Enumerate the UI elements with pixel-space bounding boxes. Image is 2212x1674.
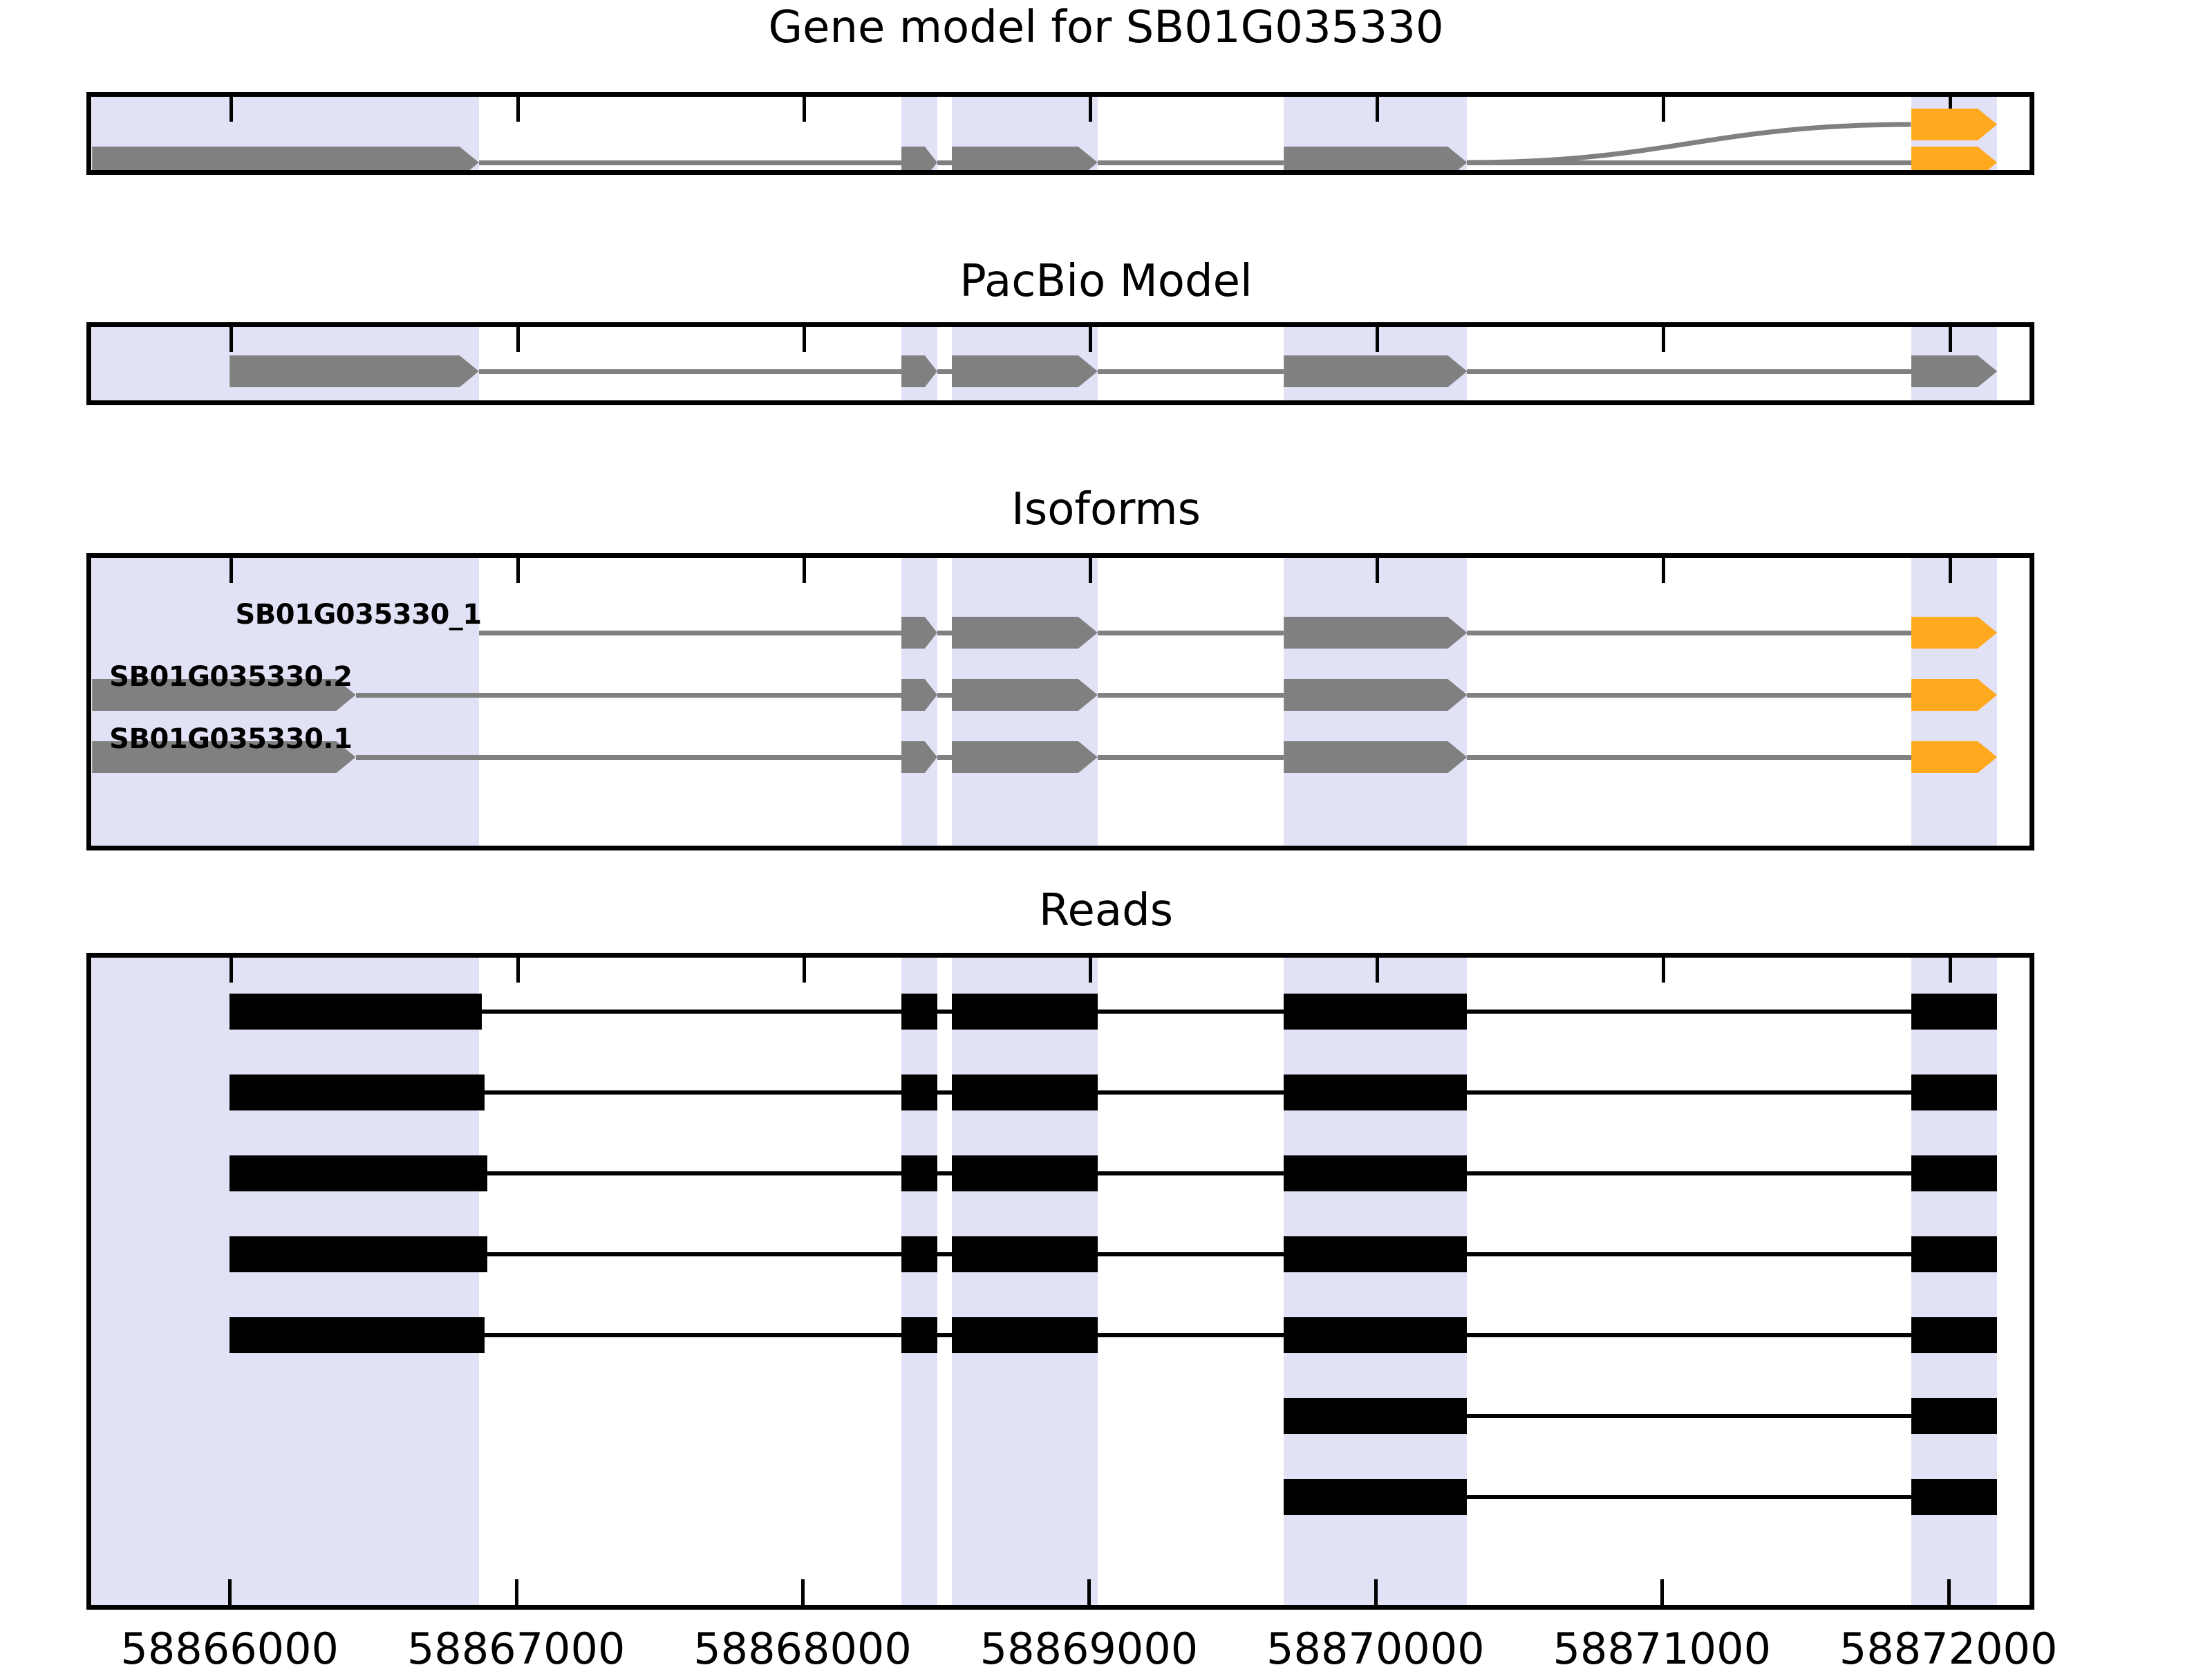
intron-line	[229, 1171, 1997, 1175]
read-block	[901, 1155, 937, 1191]
read-block	[901, 1236, 937, 1272]
read-block	[1911, 1398, 1997, 1434]
axis-tick-label: 58871000	[1510, 1628, 1814, 1671]
intron-line	[356, 693, 901, 698]
read-block	[229, 1155, 487, 1191]
read-block	[1284, 994, 1467, 1030]
read-block	[1284, 1317, 1467, 1353]
axis-tick-mark	[1949, 958, 1952, 983]
axis-tick-label: 58870000	[1224, 1628, 1528, 1671]
intron-line	[1467, 631, 1911, 635]
isoforms-panel: SB01G035330_1SB01G035330.2SB01G035330.1	[86, 553, 2034, 850]
exon-gray	[1284, 741, 1467, 773]
read-block	[1911, 1236, 1997, 1272]
axis-tick-mark	[803, 97, 806, 122]
read-block	[952, 1155, 1098, 1191]
intron-line	[229, 1252, 1997, 1256]
exon-gray	[952, 617, 1098, 649]
exon-gray	[952, 741, 1098, 773]
axis-tick-mark	[1662, 97, 1665, 122]
read-block	[901, 1317, 937, 1353]
intron-line	[937, 631, 952, 635]
axis-tick-mark	[1662, 327, 1665, 352]
intron-line	[229, 1010, 1997, 1014]
axis-tick-mark	[516, 958, 520, 983]
read-block	[952, 1236, 1098, 1272]
read-block	[901, 1075, 937, 1110]
gene-model-title: Gene model for SB01G035330	[0, 6, 2212, 50]
read-block	[952, 994, 1098, 1030]
gene-model-panel	[86, 92, 2034, 175]
read-block	[952, 1075, 1098, 1110]
axis-tick-mark	[1376, 958, 1379, 983]
axis-tick-mark	[803, 958, 806, 983]
read-block	[1284, 1479, 1467, 1515]
axis-tick-label: 58872000	[1797, 1628, 2101, 1671]
read-block	[901, 994, 937, 1030]
axis-tick-58871000	[1660, 1579, 1664, 1610]
axis-tick-mark	[229, 958, 233, 983]
intron-line	[937, 755, 952, 760]
axis-tick-58870000	[1374, 1579, 1378, 1610]
highlight-band	[92, 958, 478, 1605]
exon-gray	[1284, 147, 1467, 175]
axis-tick-mark	[1089, 958, 1092, 983]
intron-line	[1098, 693, 1284, 698]
axis-tick-label: 58866000	[77, 1628, 382, 1671]
intron-line	[1467, 160, 1911, 165]
read-block	[1911, 994, 1997, 1030]
axis-tick-mark	[516, 327, 520, 352]
axis-tick-mark	[229, 97, 233, 122]
intron-line	[1467, 369, 1911, 374]
axis-tick-mark	[1662, 958, 1665, 983]
isoform-label: SB01G035330.1	[109, 725, 352, 753]
axis-tick-mark	[803, 558, 806, 583]
intron-line	[1098, 631, 1284, 635]
isoform-label: SB01G035330_1	[235, 601, 481, 629]
isoforms-title: Isoforms	[0, 487, 2212, 532]
exon-gray	[952, 679, 1098, 711]
reads-title: Reads	[0, 889, 2212, 933]
read-block	[1284, 1398, 1467, 1434]
intron-line	[356, 755, 901, 760]
intron-line	[1098, 160, 1284, 165]
read-block	[1911, 1155, 1997, 1191]
intron-line	[937, 369, 952, 374]
exon-gray	[952, 147, 1098, 175]
read-block	[1911, 1075, 1997, 1110]
intron-line	[937, 693, 952, 698]
read-block	[1284, 1155, 1467, 1191]
highlight-band	[901, 958, 937, 1605]
axis-tick-58868000	[801, 1579, 805, 1610]
read-block	[229, 994, 482, 1030]
intron-line	[229, 1090, 1997, 1095]
intron-line	[1098, 369, 1284, 374]
intron-line	[937, 160, 952, 165]
read-block	[1911, 1317, 1997, 1353]
axis-tick-label: 58869000	[937, 1628, 1241, 1671]
exon-gray	[229, 355, 479, 387]
axis-tick-mark	[1376, 327, 1379, 352]
figure-root: Gene model for SB01G035330PacBio ModelIs…	[0, 0, 2212, 1659]
isoform-label: SB01G035330.2	[109, 663, 352, 691]
intron-line	[479, 631, 901, 635]
pacbio-model-panel	[86, 322, 2034, 405]
axis-tick-mark	[1949, 558, 1952, 583]
axis-tick-mark	[516, 558, 520, 583]
exon-gray	[1284, 679, 1467, 711]
axis-tick-58866000	[228, 1579, 232, 1610]
axis-tick-mark	[1089, 97, 1092, 122]
intron-line	[1467, 755, 1911, 760]
read-block	[1284, 1075, 1467, 1110]
axis-tick-58867000	[515, 1579, 518, 1610]
reads-panel	[86, 953, 2034, 1610]
axis-tick-mark	[1376, 97, 1379, 122]
intron-line	[1467, 693, 1911, 698]
axis-tick-mark	[1089, 558, 1092, 583]
highlight-band	[952, 958, 1098, 1605]
axis-tick-mark	[1949, 327, 1952, 352]
read-block	[952, 1317, 1098, 1353]
axis-tick-mark	[229, 327, 233, 352]
axis-tick-label: 58867000	[364, 1628, 668, 1671]
axis-tick-mark	[1662, 558, 1665, 583]
axis-tick-mark	[1089, 327, 1092, 352]
axis-tick-mark	[516, 97, 520, 122]
read-block	[229, 1236, 487, 1272]
intron-line	[1098, 755, 1284, 760]
axis-tick-58869000	[1087, 1579, 1091, 1610]
exon-gray	[952, 355, 1098, 387]
read-block	[1284, 1236, 1467, 1272]
pacbio-model-title: PacBio Model	[0, 259, 2212, 304]
exon-gray	[1284, 617, 1467, 649]
intron-line	[479, 160, 901, 165]
exon-gray	[1284, 355, 1467, 387]
axis-tick-label: 58868000	[650, 1628, 955, 1671]
read-block	[229, 1317, 485, 1353]
axis-tick-mark	[803, 327, 806, 352]
read-block	[229, 1075, 485, 1110]
intron-line	[229, 1333, 1997, 1337]
intron-line	[479, 369, 901, 374]
exon-gray	[92, 147, 478, 175]
axis-tick-58872000	[1947, 1579, 1951, 1610]
axis-tick-mark	[229, 558, 233, 583]
read-block	[1911, 1479, 1997, 1515]
axis-tick-mark	[1376, 558, 1379, 583]
